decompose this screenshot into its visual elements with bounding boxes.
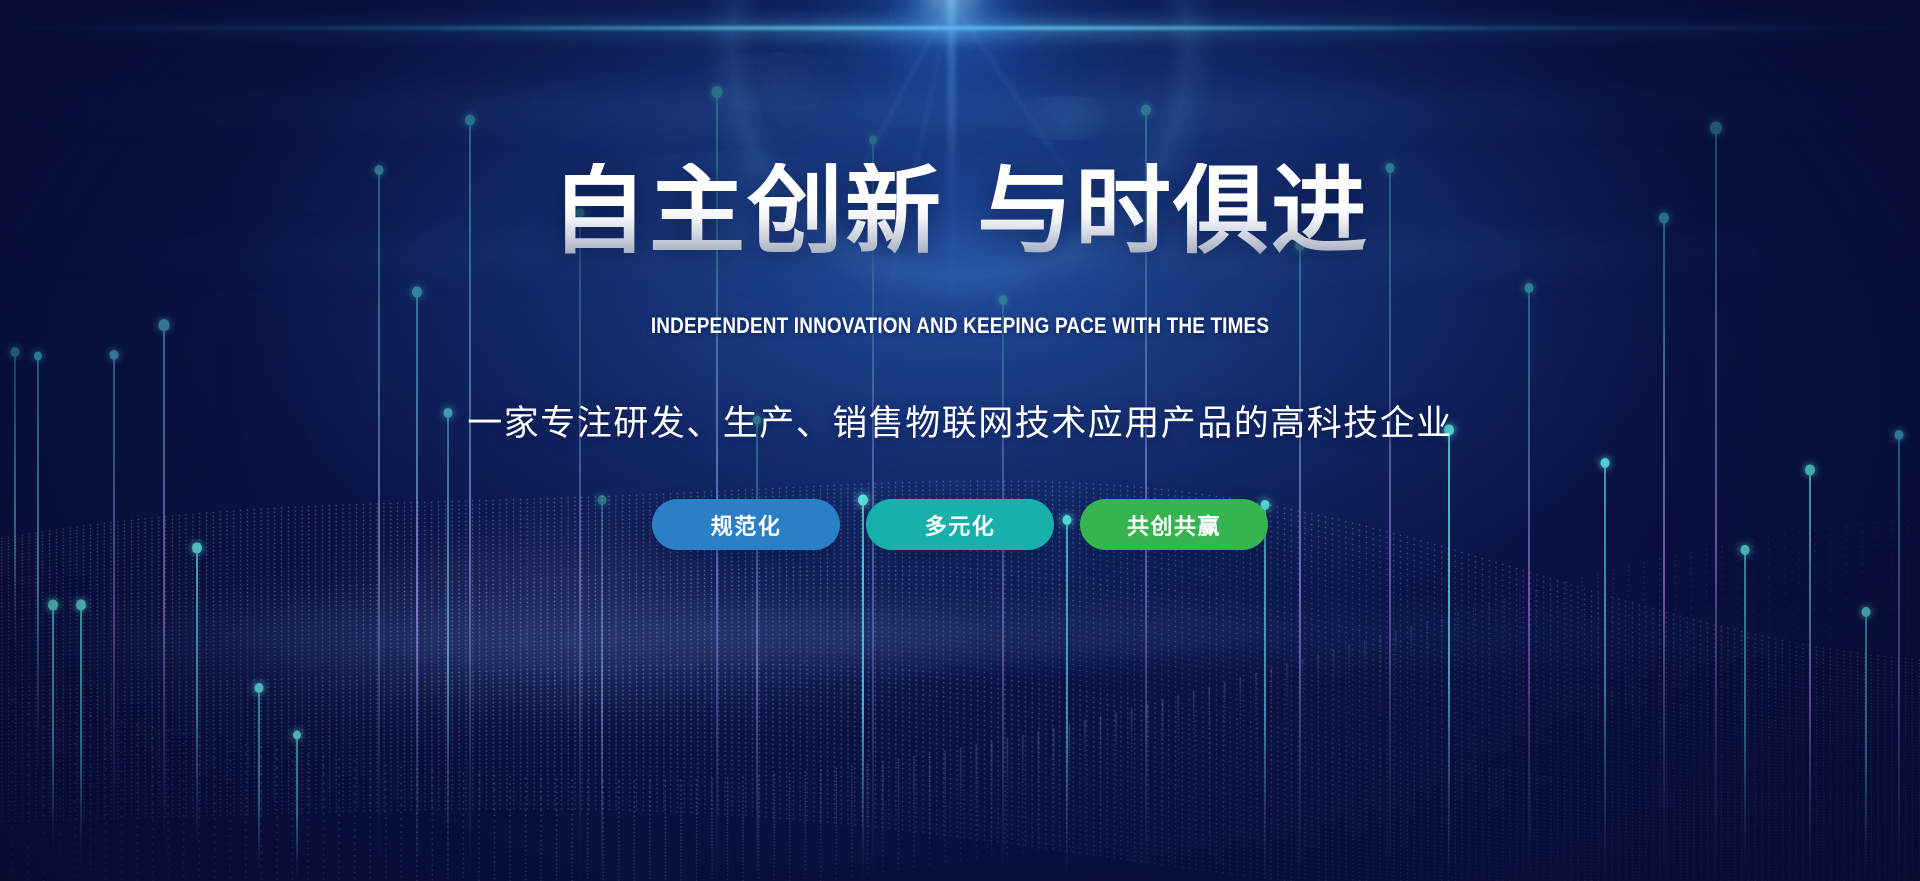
subtitle-chinese: 一家专注研发、生产、销售物联网技术应用产品的高科技企业	[0, 395, 1920, 446]
page-title: 自主创新与时俱进	[0, 163, 1920, 259]
hero-banner: 自主创新与时俱进 INDEPENDENT INNOVATION AND KEEP…	[0, 0, 1920, 881]
title-part-2: 与时俱进	[977, 155, 1369, 267]
title-part-1: 自主创新	[551, 155, 943, 267]
pill-standardization[interactable]: 规范化	[652, 499, 840, 550]
pill-win-win[interactable]: 共创共赢	[1080, 499, 1268, 550]
subtitle-english: INDEPENDENT INNOVATION AND KEEPING PACE …	[134, 313, 1785, 339]
tagline-pill-group: 规范化多元化共创共赢	[0, 499, 1920, 550]
pill-diversification[interactable]: 多元化	[866, 499, 1054, 550]
